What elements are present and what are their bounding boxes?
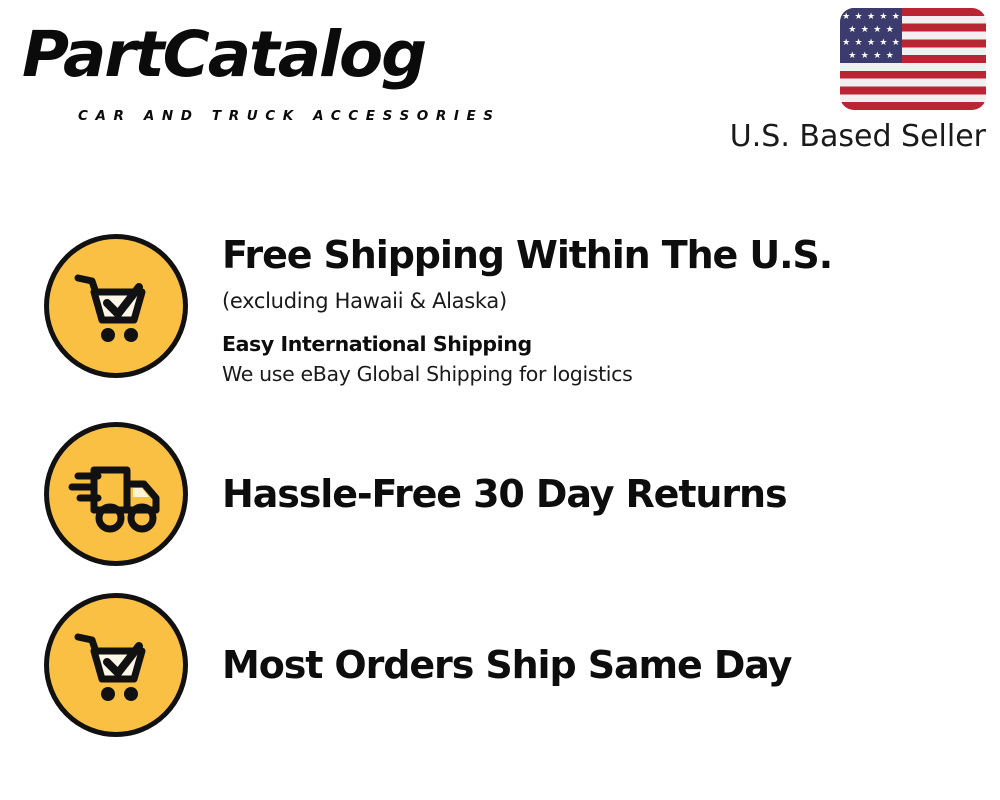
feature-secondary-title: Easy International Shipping <box>222 330 1000 358</box>
flag-star: ★ <box>892 11 900 21</box>
flag-star: ★ <box>886 50 894 60</box>
page-header: PartCatalog CAR AND TRUCK ACCESSORIES ★ … <box>0 0 1000 170</box>
feature-item-returns: Hassle-Free 30 Day Returns <box>0 422 1000 572</box>
flag-star: ★ <box>873 24 881 34</box>
brand-tagline: CAR AND TRUCK ACCESSORIES <box>78 108 501 124</box>
feature-text-wrap: Free Shipping Within The U.S. (excluding… <box>222 230 1000 388</box>
flag-star: ★ <box>855 11 863 21</box>
brand-logo[interactable]: PartCatalog CAR AND TRUCK ACCESSORIES <box>22 22 492 114</box>
flag-star: ★ <box>886 24 894 34</box>
feature-subtitle: (excluding Hawaii & Alaska) <box>222 286 1000 316</box>
flag-star: ★ <box>867 11 875 21</box>
feature-icon-wrap <box>42 593 190 737</box>
delivery-truck-icon <box>44 422 188 566</box>
flag-star-row: ★ ★ ★ ★ ★ <box>840 37 902 47</box>
flag-star: ★ <box>879 37 887 47</box>
flag-star: ★ <box>842 11 850 21</box>
feature-title: Most Orders Ship Same Day <box>222 642 791 688</box>
feature-icon-wrap <box>42 230 190 378</box>
flag-star: ★ <box>861 50 869 60</box>
flag-star-row: ★ ★ ★ ★ <box>840 50 902 60</box>
flag-star-row: ★ ★ ★ ★ <box>840 24 902 34</box>
feature-text-wrap: Most Orders Ship Same Day <box>222 593 1000 737</box>
us-flag-icon: ★ ★ ★ ★ ★ ★ ★ ★ ★ ★ ★ ★ ★ ★ <box>840 8 986 110</box>
shopping-cart-check-icon <box>44 593 188 737</box>
feature-item-same-day-shipping: Most Orders Ship Same Day <box>0 593 1000 743</box>
flag-star: ★ <box>873 50 881 60</box>
seller-label: U.S. Based Seller <box>706 119 986 155</box>
flag-canton: ★ ★ ★ ★ ★ ★ ★ ★ ★ ★ ★ ★ ★ ★ <box>840 8 902 63</box>
feature-icon-wrap <box>42 422 190 566</box>
flag-star: ★ <box>892 37 900 47</box>
feature-item-free-shipping: Free Shipping Within The U.S. (excluding… <box>0 230 1000 410</box>
feature-text-wrap: Hassle-Free 30 Day Returns <box>222 422 1000 566</box>
feature-title: Hassle-Free 30 Day Returns <box>222 471 786 517</box>
seller-badge: ★ ★ ★ ★ ★ ★ ★ ★ ★ ★ ★ ★ ★ ★ <box>706 8 986 155</box>
feature-title: Free Shipping Within The U.S. <box>222 232 1000 278</box>
flag-star: ★ <box>879 11 887 21</box>
flag-star: ★ <box>867 37 875 47</box>
flag-star: ★ <box>848 24 856 34</box>
shopping-cart-check-icon <box>44 234 188 378</box>
feature-secondary-note: We use eBay Global Shipping for logistic… <box>222 360 1000 388</box>
brand-wordmark: PartCatalog <box>22 22 425 88</box>
flag-star: ★ <box>842 37 850 47</box>
flag-star: ★ <box>861 24 869 34</box>
flag-star: ★ <box>848 50 856 60</box>
flag-star-row: ★ ★ ★ ★ ★ <box>840 11 902 21</box>
flag-star: ★ <box>855 37 863 47</box>
